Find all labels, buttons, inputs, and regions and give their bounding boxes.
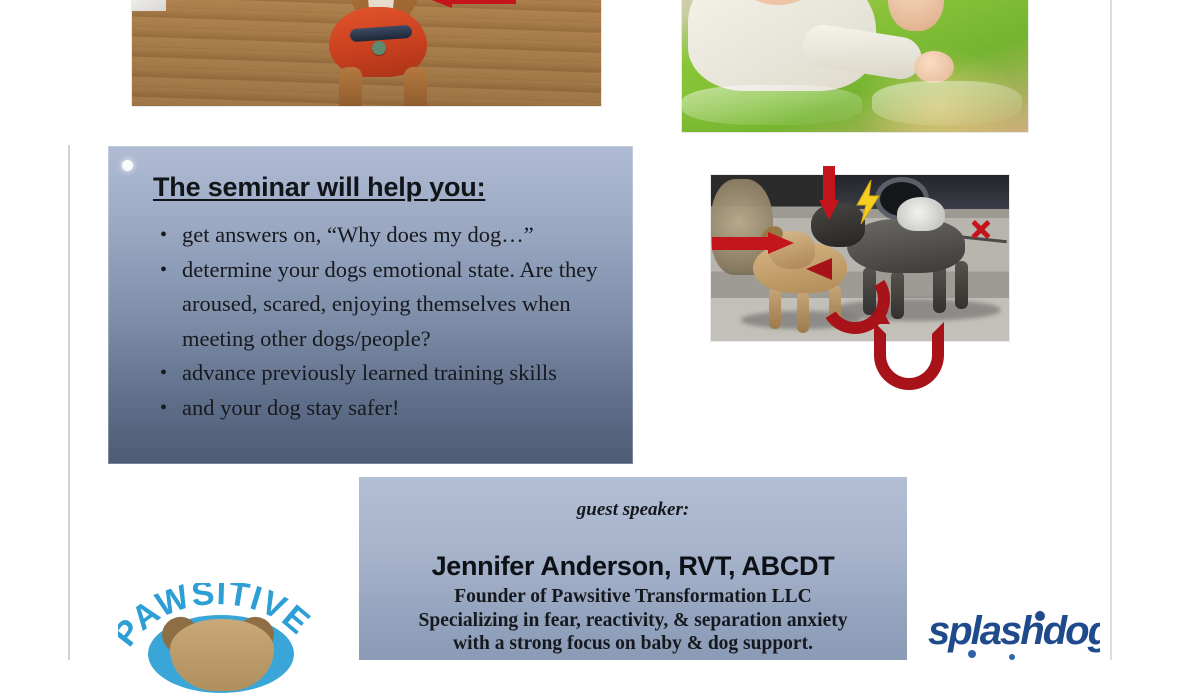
logo-splashdog: splashdog bbox=[920, 600, 1100, 660]
svg-text:PAWSITIVE: PAWSITIVE bbox=[118, 583, 318, 653]
red-arrow-right-icon bbox=[712, 232, 794, 254]
seminar-benefits-list: get answers on, “Why does my dog…” deter… bbox=[156, 218, 601, 425]
baby-hand bbox=[914, 51, 954, 83]
photo-baby-on-blanket: baby lying on a green blanket bbox=[681, 0, 1029, 133]
red-arrow-down-icon bbox=[819, 166, 839, 220]
logo-pawsitive: PAWSITIVE bbox=[118, 583, 318, 660]
dog-tag bbox=[372, 41, 386, 55]
list-item: advance previously learned training skil… bbox=[156, 356, 601, 391]
dog-front-leg-left bbox=[339, 67, 362, 107]
guest-speaker-label: guest speaker: bbox=[359, 499, 907, 521]
specialty-line-1: Specializing in fear, reactivity, & sepa… bbox=[419, 610, 848, 631]
blanket-fold bbox=[682, 85, 862, 125]
baby-foot bbox=[888, 0, 944, 31]
list-item: determine your dogs emotional state. Are… bbox=[156, 253, 601, 357]
red-curved-arrow-icon bbox=[806, 258, 868, 316]
red-u-turn-arrow-icon bbox=[866, 314, 928, 370]
lightning-bolt-icon bbox=[855, 180, 881, 224]
photo-two-dogs-alt: two dogs meeting on pavement with red an… bbox=[711, 175, 712, 176]
seminar-heading: The seminar will help you: bbox=[153, 172, 485, 203]
logo-splashdog-wordmark: splashdog bbox=[920, 600, 1100, 660]
dark-dog-tail bbox=[897, 197, 945, 231]
guest-speaker-panel: guest speaker: Jennifer Anderson, RVT, A… bbox=[359, 477, 907, 660]
dark-dog-leg bbox=[955, 261, 968, 309]
guest-speaker-specialty: Specializing in fear, reactivity, & sepa… bbox=[359, 609, 907, 655]
dark-dog-leg bbox=[933, 265, 946, 313]
photo-dog-indoor: dog in orange sweater standing on wooden… bbox=[131, 0, 602, 107]
vertical-divider-left bbox=[68, 145, 70, 660]
guest-speaker-founder: Founder of Pawsitive Transformation LLC bbox=[359, 586, 907, 608]
tan-dog-leg bbox=[769, 287, 781, 329]
white-bullet-dot-icon bbox=[122, 160, 133, 171]
logo-pawsitive-arc-text: PAWSITIVE bbox=[118, 583, 318, 660]
red-x-icon bbox=[970, 218, 992, 240]
dog-front-leg-right bbox=[404, 67, 427, 107]
specialty-line-2: with a strong focus on baby & dog suppor… bbox=[453, 633, 813, 654]
list-item: and your dog stay safer! bbox=[156, 391, 601, 426]
red-arrow-left-icon bbox=[424, 0, 516, 8]
photo-wall-corner bbox=[132, 0, 166, 11]
seminar-content-panel: The seminar will help you: get answers o… bbox=[108, 146, 633, 464]
guest-speaker-name: Jennifer Anderson, RVT, ABCDT bbox=[359, 551, 907, 582]
slide-canvas: dog in orange sweater standing on wooden… bbox=[0, 0, 1180, 660]
svg-text:splashdog: splashdog bbox=[928, 609, 1100, 653]
list-item: get answers on, “Why does my dog…” bbox=[156, 218, 601, 253]
blanket-fold bbox=[872, 81, 1022, 125]
vertical-divider-right bbox=[1110, 0, 1112, 660]
dark-dog-leg bbox=[891, 271, 904, 319]
